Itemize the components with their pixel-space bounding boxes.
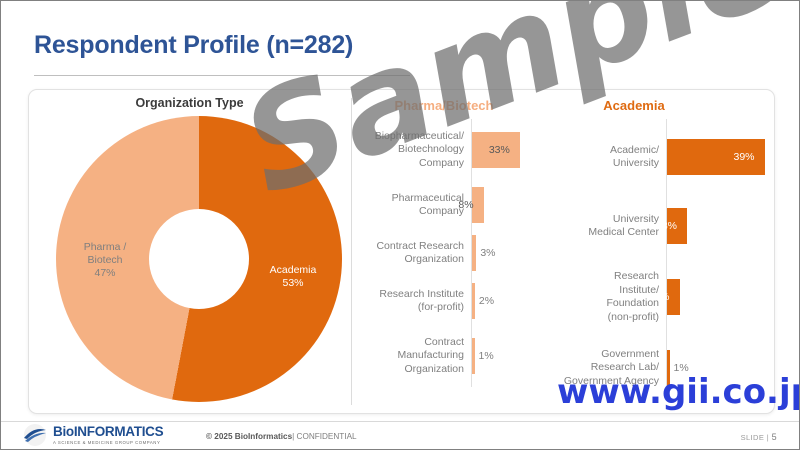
bar-category-label-line: Manufacturing [353, 349, 464, 363]
bar-value-label: 1% [674, 362, 689, 374]
footer-divider [1, 421, 800, 422]
brand-logo-text: BioINFORMATICS A SCIENCE & MEDICINE GROU… [53, 425, 163, 445]
bar-category-label-line: Pharmaceutical [353, 192, 464, 206]
bar[interactable]: 33% [472, 132, 520, 168]
brand-name-prefix: Bio [53, 424, 74, 439]
bar-value-label: 2% [479, 295, 494, 307]
bar-value-label: 1% [479, 350, 494, 362]
bar-category-label-line: (for-profit) [353, 301, 464, 315]
academia-chart: Academia Academic/University39%Universit… [550, 98, 774, 399]
bar-value-label: 39% [733, 151, 754, 163]
pharma-biotech-chart: Pharma/Biotech Biopharmaceutical/Biotech… [353, 98, 549, 387]
bar-category-label-line: Research Lab/ [550, 361, 659, 375]
bar-value-label: 8% [458, 199, 473, 211]
donut-hole [149, 209, 249, 309]
bar-category-label-line: Organization [353, 253, 464, 267]
bar-row: Contract ResearchOrganization3% [353, 229, 549, 277]
donut-chart-title: Organization Type [28, 96, 351, 110]
panel-divider [351, 98, 352, 405]
slide-canvas: Respondent Profile (n=282) Organization … [0, 0, 800, 450]
title-divider [34, 75, 410, 76]
bar-category-label: Biopharmaceutical/BiotechnologyCompany [353, 130, 471, 171]
bar[interactable]: 8% [472, 187, 484, 223]
bar-category-label: ResearchInstitute/Foundation(non-profit) [550, 270, 666, 324]
bar-track: 1% [666, 337, 774, 399]
bar-category-label-line: Company [353, 205, 464, 219]
bar-category-label: PharmaceuticalCompany [353, 192, 471, 219]
bar-value-label: 33% [489, 144, 510, 156]
footer-copyright: © 2025 BioInformatics| CONFIDENTIAL [206, 432, 357, 441]
bar-track: 1% [471, 325, 549, 387]
bar-row: GovernmentResearch Lab/Government Agency… [550, 337, 774, 399]
bar-category-label-line: Company [353, 157, 464, 171]
bar[interactable]: 3% [472, 235, 476, 271]
pharma-biotech-chart-title: Pharma/Biotech [353, 98, 549, 113]
bar-category-label: UniversityMedical Center [550, 213, 666, 240]
academia-bar-rows: Academic/University39%UniversityMedical … [550, 119, 774, 399]
bar-category-label: Contract ResearchOrganization [353, 240, 471, 267]
bar-category-label: ContractManufacturingOrganization [353, 336, 471, 377]
bar-category-label-line: Biotechnology [353, 143, 464, 157]
bar-category-label-line: Biopharmaceutical/ [353, 130, 464, 144]
bar-category-label-line: Research Institute [353, 288, 464, 302]
bar-category-label-line: University [550, 157, 659, 171]
bar[interactable]: 1% [472, 338, 475, 374]
bar-category-label: Research Institute(for-profit) [353, 288, 471, 315]
bar-category-label-line: Institute/ [550, 284, 659, 298]
bar-row: ResearchInstitute/Foundation(non-profit)… [550, 257, 774, 337]
page-title: Respondent Profile (n=282) [34, 31, 353, 60]
bar-category-label-line: Contract [353, 336, 464, 350]
bar-row: Academic/University39% [550, 119, 774, 195]
bar-row: ContractManufacturingOrganization1% [353, 325, 549, 387]
brand-logo: BioINFORMATICS A SCIENCE & MEDICINE GROU… [21, 424, 163, 446]
donut-chart: Pharma / Biotech 47% Academia 53% [56, 116, 346, 406]
copyright-separator: | [292, 432, 294, 441]
slide-number-value: 5 [772, 432, 777, 442]
bar-track: 5% [666, 257, 774, 337]
bar[interactable]: 2% [472, 283, 475, 319]
brand-name: BioINFORMATICS [53, 425, 163, 439]
bar-category-label-line: (non-profit) [550, 311, 659, 325]
donut-slice-label-pharma: Pharma / Biotech 47% [64, 241, 146, 280]
bar-row: Research Institute(for-profit)2% [353, 277, 549, 325]
slide-number: SLIDE | 5 [741, 432, 777, 442]
bar-value-label: 8% [662, 220, 677, 232]
bar-category-label: Academic/University [550, 144, 666, 171]
swoosh-icon [21, 424, 49, 446]
confidential-label: CONFIDENTIAL [297, 432, 357, 441]
bar-track: 8% [666, 195, 774, 257]
bar-value-label: 5% [654, 291, 669, 303]
bar-category-label-line: Academic/ [550, 144, 659, 158]
brand-tagline: A SCIENCE & MEDICINE GROUP COMPANY [53, 441, 163, 445]
brand-name-suffix: INFORMATICS [74, 424, 163, 439]
bar-category-label: GovernmentResearch Lab/Government Agency [550, 348, 666, 389]
copyright-text: © 2025 BioInformatics [206, 432, 292, 441]
bar-category-label-line: Medical Center [550, 226, 659, 240]
bar-category-label-line: Research [550, 270, 659, 284]
bar[interactable]: 8% [667, 208, 687, 244]
bar-track: 2% [471, 277, 549, 325]
bar-value-label: 3% [480, 247, 495, 259]
bar-track: 39% [666, 119, 774, 195]
bar-track: 33% [471, 119, 549, 181]
bar-category-label-line: Government [550, 348, 659, 362]
bar-row: Biopharmaceutical/BiotechnologyCompany33… [353, 119, 549, 181]
bar-row: PharmaceuticalCompany8% [353, 181, 549, 229]
bar[interactable]: 5% [667, 279, 680, 315]
donut-slice-label-academia: Academia 53% [252, 264, 334, 290]
bar-track: 3% [471, 229, 549, 277]
academia-chart-title: Academia [550, 98, 774, 113]
bar-category-label-line: Foundation [550, 297, 659, 311]
slide-number-label: SLIDE [741, 433, 765, 442]
bar[interactable]: 39% [667, 139, 765, 175]
slide-number-separator: | [767, 433, 769, 442]
pharma-biotech-bar-rows: Biopharmaceutical/BiotechnologyCompany33… [353, 119, 549, 387]
bar-track: 8% [471, 181, 549, 229]
bar-category-label-line: Government Agency [550, 375, 659, 389]
bar-category-label-line: Contract Research [353, 240, 464, 254]
bar-row: UniversityMedical Center8% [550, 195, 774, 257]
bar-category-label-line: Organization [353, 363, 464, 377]
bar-category-label-line: University [550, 213, 659, 227]
bar[interactable]: 1% [667, 350, 670, 386]
